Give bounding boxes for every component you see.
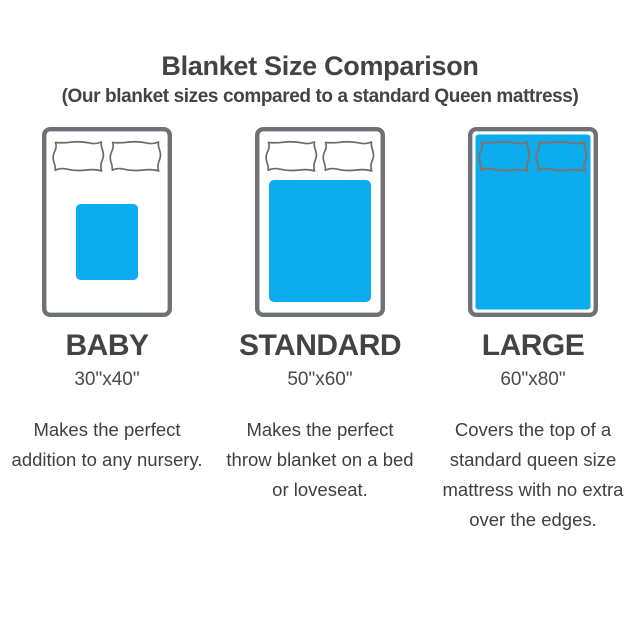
size-name-large: LARGE: [482, 331, 585, 361]
comparison-column-large: LARGE 60"x80" Covers the top of a standa…: [427, 127, 640, 535]
pillow-right-icon: [323, 142, 373, 171]
comparison-columns: BABY 30"x40" Makes the perfect addition …: [0, 127, 640, 535]
description-standard: Makes the perfect throw blanket on a bed…: [222, 415, 418, 505]
page-subtitle: (Our blanket sizes compared to a standar…: [0, 87, 640, 108]
comparison-column-baby: BABY 30"x40" Makes the perfect addition …: [1, 127, 214, 475]
size-dimensions-baby: 30"x40": [74, 370, 139, 389]
size-dimensions-standard: 50"x60": [287, 370, 352, 389]
pillow-left-icon: [53, 142, 103, 171]
size-name-baby: BABY: [65, 331, 148, 361]
comparison-column-standard: STANDARD 50"x60" Makes the perfect throw…: [214, 127, 427, 505]
bed-diagram-large: [468, 127, 598, 317]
description-large: Covers the top of a standard queen size …: [435, 415, 631, 535]
page-title: Blanket Size Comparison: [0, 52, 640, 80]
blanket-overlay-baby: [76, 204, 138, 280]
pillow-right-icon: [110, 142, 160, 171]
size-dimensions-large: 60"x80": [500, 370, 565, 389]
bed-diagram-baby: [42, 127, 172, 317]
blanket-overlay-large: [476, 135, 591, 310]
bed-diagram-standard: [255, 127, 385, 317]
blanket-overlay-standard: [269, 180, 371, 302]
description-baby: Makes the perfect addition to any nurser…: [9, 415, 205, 475]
page-header: Blanket Size Comparison (Our blanket siz…: [0, 0, 640, 108]
size-name-standard: STANDARD: [239, 331, 401, 361]
pillow-left-icon: [266, 142, 316, 171]
